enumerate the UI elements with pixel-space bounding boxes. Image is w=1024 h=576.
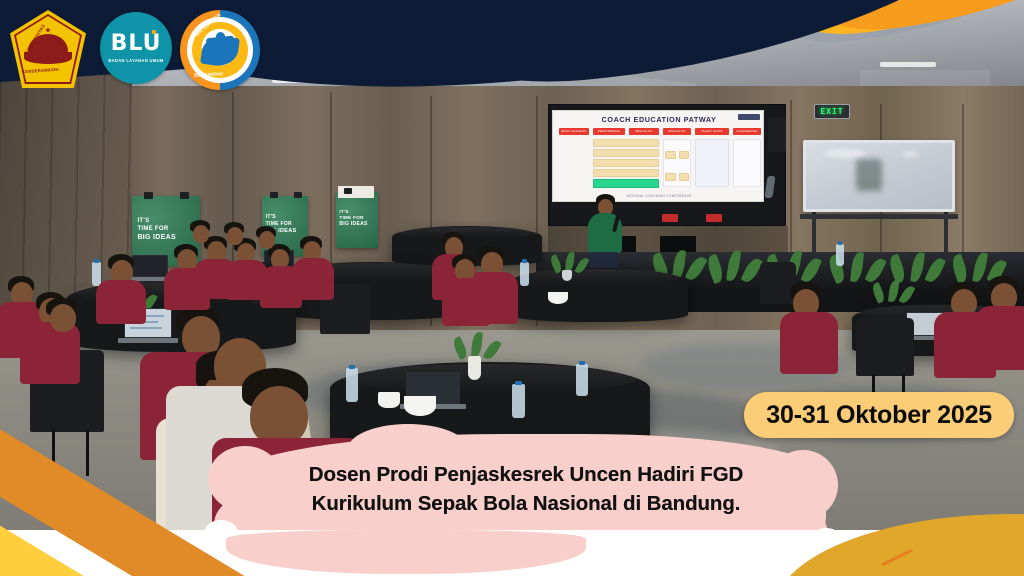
dikti-arc-text: DIKTISAINTEK BERDAMPAK — [180, 10, 260, 90]
paper-cup — [378, 392, 400, 408]
flipchart-text: IT'S TIME FOR BIG IDEAS — [137, 217, 175, 243]
event-poster: COACH EDUCATION PATWAY BASIC COACHING PE… — [0, 0, 1024, 576]
uncen-arc-text: UNIVERSITAS CENDERAWASIH — [10, 10, 86, 88]
water-bottle — [92, 262, 101, 286]
red-sign — [706, 214, 722, 222]
caption-line-2-overlay: Kurikulum Sepak Bola Nasional di Bandung… — [228, 489, 824, 518]
caption-text-overlay: Dosen Prodi Penjaskesrek Uncen Hadiri FG… — [228, 460, 824, 518]
whiteboard — [803, 140, 955, 212]
water-bottle — [346, 368, 358, 402]
slide-logo — [738, 114, 760, 120]
blu-wordmark: BLU — [111, 33, 162, 55]
whiteboard-tray — [800, 214, 958, 219]
projector-slide: COACH EDUCATION PATWAY BASIC COACHING PE… — [552, 110, 764, 202]
slide-footer: NATIONAL COACHING CONFERENCE — [553, 194, 764, 198]
universitas-cenderawasih-logo: UNIVERSITAS CENDERAWASIH — [10, 10, 86, 88]
round-table-mid — [508, 268, 688, 322]
water-bottle — [512, 384, 525, 418]
diktisaintek-berdampak-logo: DIKTISAINTEK BERDAMPAK — [180, 10, 260, 90]
bowl — [404, 396, 436, 416]
blu-subtitle: BADAN LAYANAN UMUM — [108, 58, 163, 63]
exit-sign: EXIT — [814, 104, 850, 119]
slide-title: COACH EDUCATION PATWAY — [553, 115, 764, 124]
red-sign — [662, 214, 678, 222]
water-bottle — [576, 364, 588, 396]
bowl — [548, 292, 568, 304]
chair — [760, 262, 796, 304]
wall-speaker — [768, 118, 786, 152]
water-bottle — [836, 244, 844, 266]
flipchart-text-3: IT'S TIME FOR BIG IDEAS — [339, 209, 367, 228]
blu-logo: BLU BADAN LAYANAN UMUM — [100, 12, 172, 84]
chair — [856, 318, 914, 376]
flipchart-right: IT'S TIME FOR BIG IDEAS — [336, 192, 378, 248]
water-bottle — [520, 262, 529, 286]
blu-accent-dot — [152, 30, 156, 34]
logo-bar: UNIVERSITAS CENDERAWASIH BLU BADAN LAYAN… — [8, 8, 268, 90]
caption-line-1-overlay: Dosen Prodi Penjaskesrek Uncen Hadiri FG… — [228, 460, 824, 489]
